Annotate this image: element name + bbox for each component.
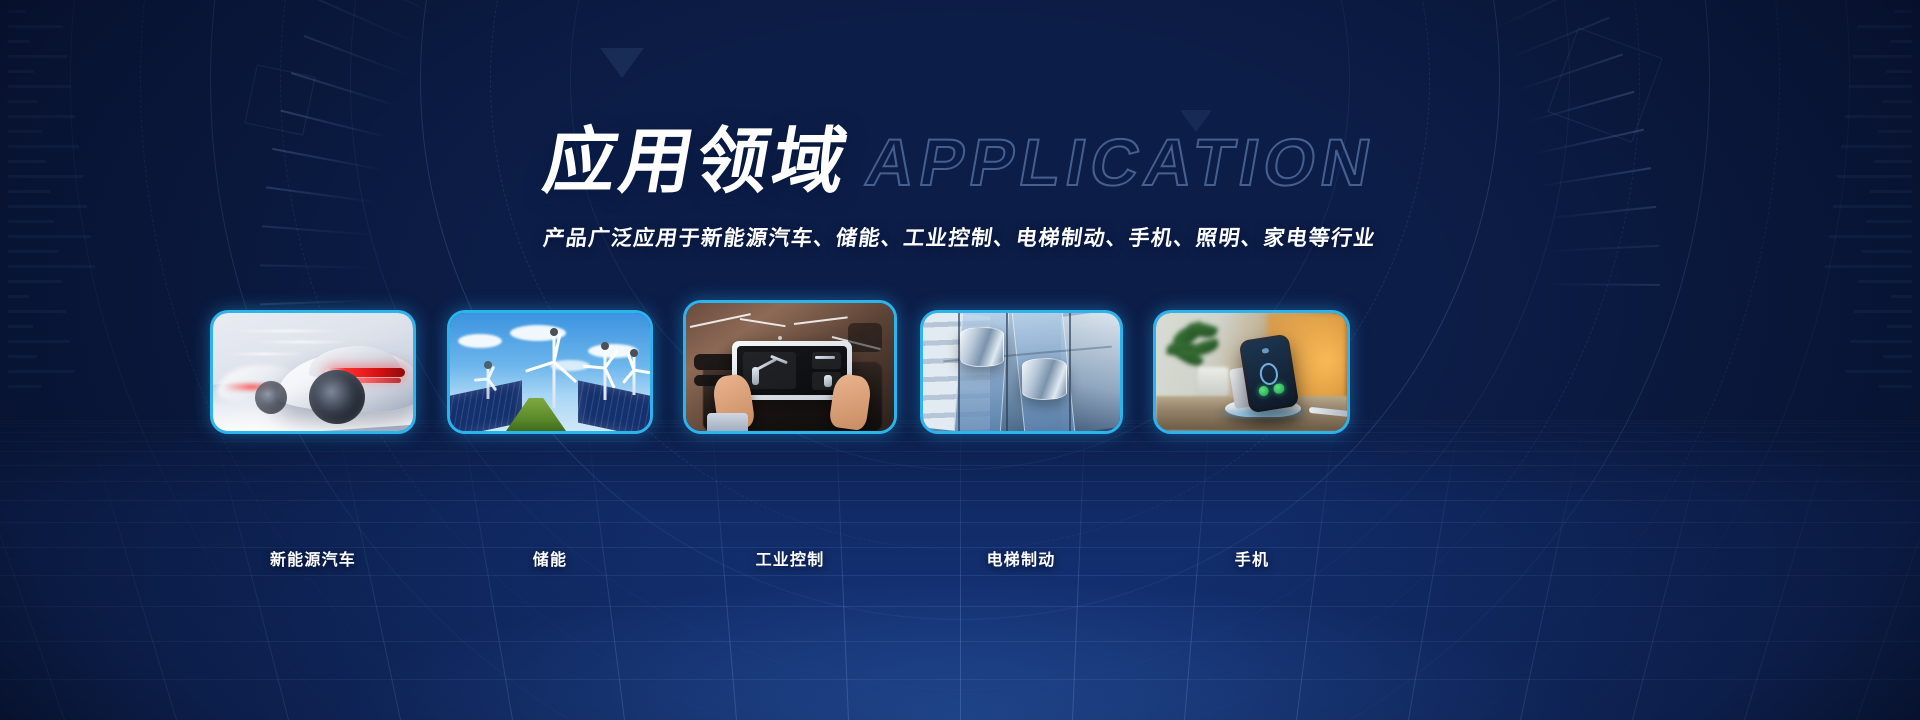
application-card-new-energy-vehicle[interactable] — [210, 310, 416, 434]
application-card-energy-storage[interactable] — [447, 310, 653, 434]
application-card-elevator-braking[interactable] — [920, 310, 1123, 434]
card-label-mobile-phone: 手机 — [1132, 546, 1372, 570]
application-card-mobile-phone[interactable] — [1153, 310, 1350, 434]
page-title-en: APPLICATION — [859, 118, 1383, 206]
card-label-industrial-control: 工业控制 — [670, 546, 910, 570]
banner-content: 应用领域APPLICATION 产品广泛应用于新能源汽车、储能、工业控制、电梯制… — [0, 0, 1920, 720]
application-card-list — [0, 300, 1920, 560]
card-image-smartphone-wireless-charger — [1156, 313, 1347, 431]
card-label-new-energy-vehicle: 新能源汽车 — [193, 546, 433, 570]
page-subtitle: 产品广泛应用于新能源汽车、储能、工业控制、电梯制动、手机、照明、家电等行业 — [0, 222, 1920, 252]
card-label-energy-storage: 储能 — [430, 546, 670, 570]
card-image-electric-sports-car — [213, 313, 413, 431]
application-card-industrial-control[interactable] — [683, 300, 897, 434]
card-image-tablet-industrial-robot-control — [686, 303, 894, 431]
card-image-solar-panels-wind-turbines — [450, 313, 650, 431]
card-image-glass-elevator-shafts — [923, 313, 1120, 431]
application-banner: 应用领域APPLICATION 产品广泛应用于新能源汽车、储能、工业控制、电梯制… — [0, 0, 1920, 720]
page-title-cn: 应用领域 — [537, 118, 857, 206]
card-label-elevator-braking: 电梯制动 — [901, 546, 1141, 570]
page-title: 应用领域APPLICATION — [0, 118, 1920, 214]
